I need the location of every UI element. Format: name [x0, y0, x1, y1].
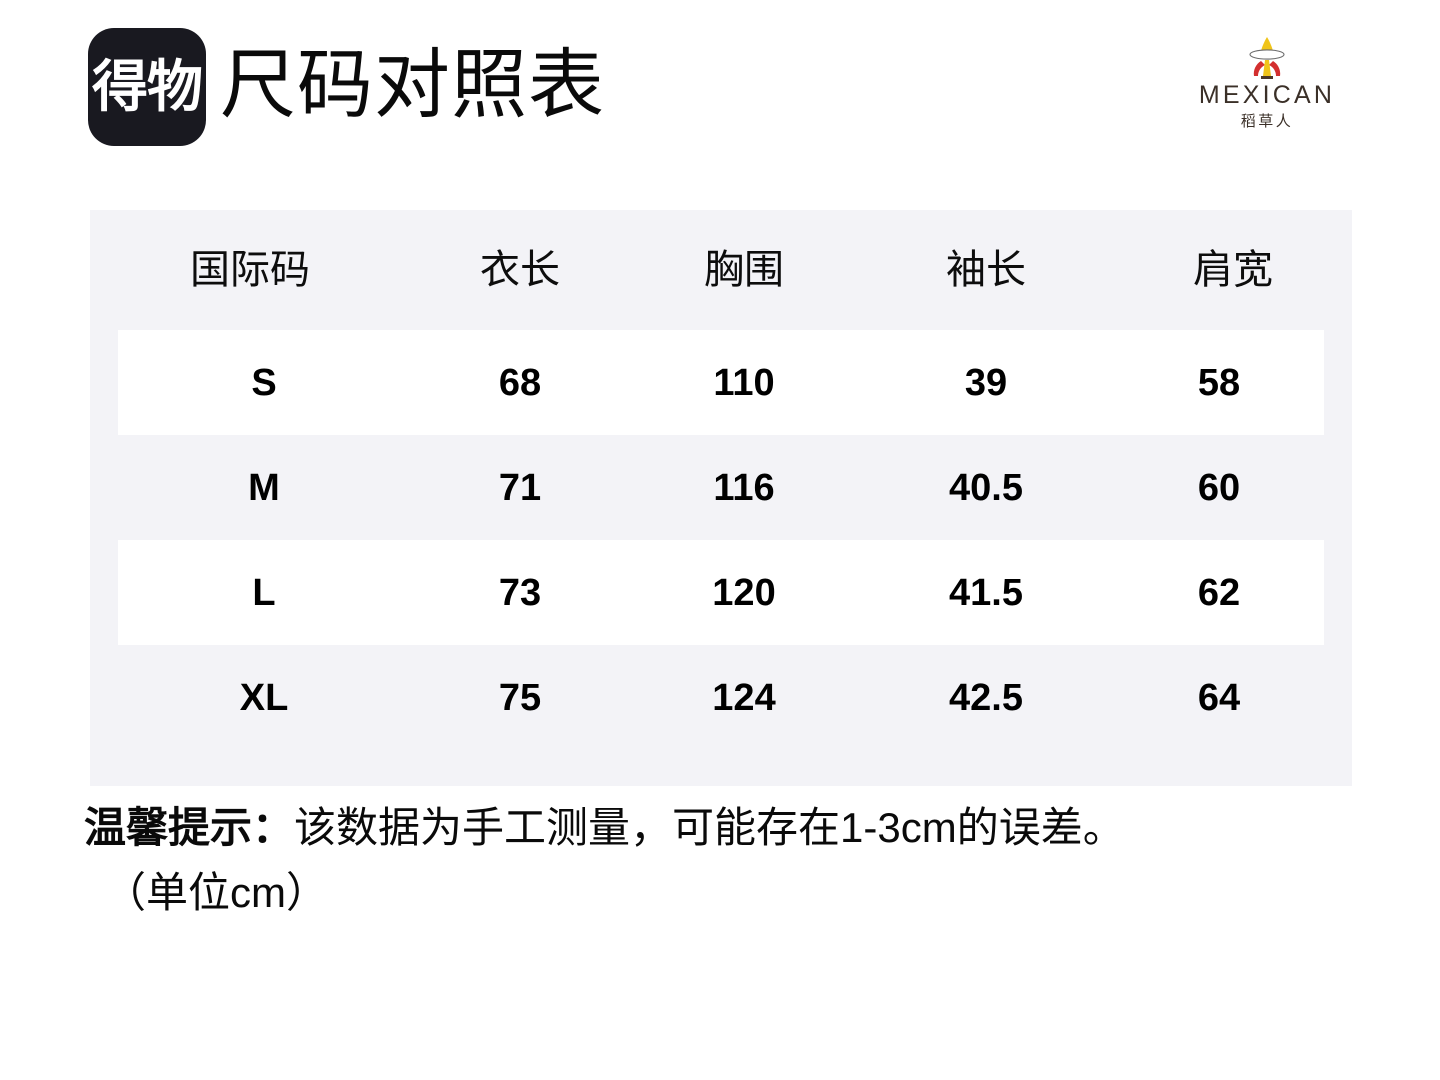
- dewu-logo-badge: 得物: [88, 28, 206, 146]
- cell-chest: 120: [630, 574, 858, 612]
- note-label: 温馨提示：: [84, 804, 294, 851]
- dewu-logo-text: 得物: [92, 59, 202, 115]
- table-row: L 73 120 41.5 62: [118, 540, 1324, 645]
- cell-sleeve: 39: [858, 364, 1114, 402]
- cell-length: 73: [410, 574, 630, 612]
- table-header-row: 国际码 衣长 胸围 袖长 肩宽: [90, 210, 1352, 330]
- size-chart-table: 国际码 衣长 胸围 袖长 肩宽 S 68 110 39 58 M 71 116 …: [90, 210, 1352, 786]
- mexican-wordmark: MEXICAN: [1199, 83, 1335, 108]
- cell-length: 68: [410, 364, 630, 402]
- cell-sleeve: 41.5: [858, 574, 1114, 612]
- table-row: M 71 116 40.5 60: [118, 435, 1324, 540]
- column-header-chest: 胸围: [630, 250, 858, 290]
- cell-size: L: [118, 574, 410, 612]
- cell-size: M: [118, 469, 410, 507]
- cell-length: 75: [410, 679, 630, 717]
- cell-shoulder: 64: [1114, 679, 1324, 717]
- cell-size: XL: [118, 679, 410, 717]
- cell-shoulder: 60: [1114, 469, 1324, 507]
- mexican-brand-logo: MEXICAN 稻草人: [1178, 34, 1356, 134]
- note-body: 该数据为手工测量，可能存在1-3cm的误差。: [294, 804, 1125, 851]
- note-line-primary: 温馨提示：该数据为手工测量，可能存在1-3cm的误差。: [84, 800, 1364, 857]
- table-row: XL 75 124 42.5 64: [118, 645, 1324, 750]
- column-header-length: 衣长: [410, 250, 630, 290]
- column-header-shoulder: 肩宽: [1114, 250, 1352, 290]
- page-header: 得物 尺码对照表 MEXICAN 稻草人: [0, 0, 1440, 175]
- cell-length: 71: [410, 469, 630, 507]
- column-header-size: 国际码: [90, 250, 410, 290]
- table-row: S 68 110 39 58: [118, 330, 1324, 435]
- cell-sleeve: 40.5: [858, 469, 1114, 507]
- column-header-sleeve: 袖长: [858, 250, 1114, 290]
- table-body: S 68 110 39 58 M 71 116 40.5 60 L 73 120…: [90, 330, 1352, 750]
- cell-chest: 116: [630, 469, 858, 507]
- measurement-note: 温馨提示：该数据为手工测量，可能存在1-3cm的误差。 （单位cm）: [84, 800, 1364, 921]
- page-title: 尺码对照表: [220, 48, 605, 124]
- cell-shoulder: 58: [1114, 364, 1324, 402]
- cell-chest: 110: [630, 364, 858, 402]
- mexican-subtitle: 稻草人: [1241, 114, 1294, 129]
- scarecrow-sombrero-icon: [1232, 34, 1302, 82]
- cell-shoulder: 62: [1114, 574, 1324, 612]
- cell-size: S: [118, 364, 410, 402]
- cell-chest: 124: [630, 679, 858, 717]
- cell-sleeve: 42.5: [858, 679, 1114, 717]
- note-unit-line: （单位cm）: [84, 865, 1364, 922]
